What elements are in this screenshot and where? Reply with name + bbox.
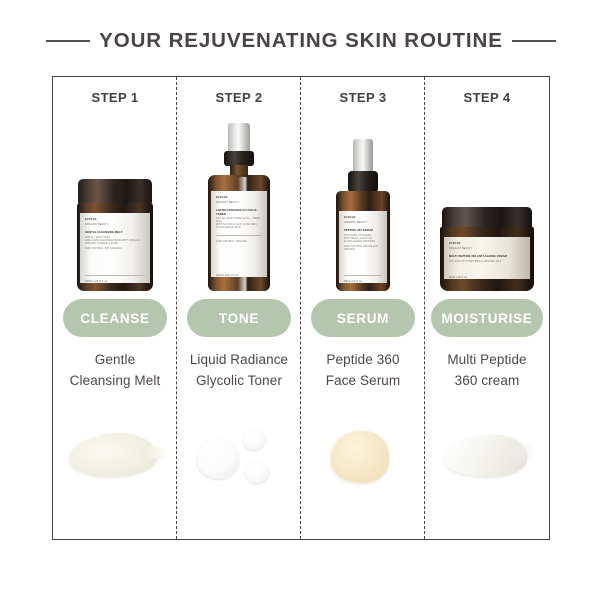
spray-pump (224, 151, 254, 166)
label-product-name: GENTLE CLEANSING MELT (85, 231, 145, 234)
label-brand: EVOLVE (85, 218, 145, 221)
routine-column-step-4: STEP 4 EVOLVE ORGANIC BEAUTY MULTI PEPTI… (425, 77, 549, 539)
droplet-small (245, 461, 269, 483)
routine-column-step-1: STEP 1 EVOLVE ORGANIC BEAUTY GENTLE CLEA… (53, 77, 177, 539)
infographic-page: YOUR REJUVENATING SKIN ROUTINE STEP 1 EV… (0, 0, 602, 602)
label-brand-sub: ORGANIC BEAUTY (344, 221, 382, 224)
step-label: STEP 4 (464, 90, 511, 105)
label-product-name: PEPTIDE 360 SERUM (344, 229, 382, 232)
category-pill-moisturise[interactable]: MOISTURISE (431, 299, 543, 337)
bottle-cap (228, 123, 250, 153)
jar-lid (78, 179, 152, 205)
title-rule-right (512, 40, 556, 42)
droplet-large (197, 439, 239, 479)
texture-swatch-moisturise (425, 392, 549, 539)
product-image-cleanse: EVOLVE ORGANIC BEAUTY GENTLE CLEANSING M… (53, 105, 177, 297)
title-rule-left (46, 40, 90, 42)
product-label: EVOLVE ORGANIC BEAUTY MULTI PEPTIDE 360 … (444, 237, 530, 279)
texture-swatch-cleanse (53, 392, 177, 539)
label-size: 30ml e/1 fl.oz (344, 280, 382, 283)
product-label: EVOLVE ORGANIC BEAUTY LIQUID RADIANCE GL… (211, 191, 267, 277)
balm-texture-smear (69, 433, 157, 477)
product-name-tone: Liquid Radiance Glycolic Toner (190, 350, 288, 392)
product-jar-multi-peptide-cream: EVOLVE ORGANIC BEAUTY MULTI PEPTIDE 360 … (440, 207, 534, 291)
product-name-moisturise: Multi Peptide 360 cream (447, 350, 526, 392)
label-claim: 100% NATURAL, 90% ORGANIC (85, 248, 145, 251)
step-label: STEP 1 (92, 90, 139, 105)
category-pill-serum[interactable]: SERUM (311, 299, 415, 337)
routine-column-step-3: STEP 3 EVOLVE ORGANIC BEAUTY PEPTIDE 360… (301, 77, 425, 539)
pump-dispenser (348, 171, 378, 193)
label-brand: EVOLVE (449, 242, 525, 245)
category-pill-label: CLEANSE (80, 311, 149, 326)
step-label: STEP 3 (340, 90, 387, 105)
category-pill-label: SERUM (337, 311, 389, 326)
bottle-cap (353, 139, 373, 173)
label-brand-sub: ORGANIC BEAUTY (85, 223, 145, 226)
label-brand: EVOLVE (216, 196, 262, 199)
cream-texture-smear (445, 435, 527, 477)
category-pill-label: MOISTURISE (441, 311, 532, 326)
product-label: EVOLVE ORGANIC BEAUTY GENTLE CLEANSING M… (80, 213, 150, 283)
routine-table: STEP 1 EVOLVE ORGANIC BEAUTY GENTLE CLEA… (52, 76, 550, 540)
label-product-name: LIQUID RADIANCE GLYCOLIC TONER (216, 209, 262, 216)
label-description: FOR ALL SKIN TYPES / DULL + TIRED SKIN W… (216, 218, 262, 230)
label-product-name: MULTI PEPTIDE 360 ANTI-AGEING CREAM (449, 255, 525, 258)
product-image-tone: EVOLVE ORGANIC BEAUTY LIQUID RADIANCE GL… (177, 105, 301, 297)
product-image-moisturise: EVOLVE ORGANIC BEAUTY MULTI PEPTIDE 360 … (425, 105, 549, 297)
category-pill-cleanse[interactable]: CLEANSE (63, 299, 167, 337)
label-claim: 100% NATURAL ORIGIN, 90% ORGANIC (344, 246, 382, 252)
product-jar-cleansing-melt: EVOLVE ORGANIC BEAUTY GENTLE CLEANSING M… (77, 179, 153, 291)
product-name-cleanse: Gentle Cleansing Melt (70, 350, 161, 392)
label-claim: 100% NATURAL, ORGANIC (216, 241, 262, 244)
step-label: STEP 2 (216, 90, 263, 105)
product-label: EVOLVE ORGANIC BEAUTY PEPTIDE 360 SERUM … (339, 211, 387, 283)
droplet-medium (243, 429, 265, 450)
label-description: DRY SKIN WITH PEPTIDES & ORGANIC OILS (449, 261, 525, 264)
label-brand: EVOLVE (344, 216, 382, 219)
label-brand-sub: ORGANIC BEAUTY (449, 247, 525, 250)
routine-column-step-2: STEP 2 EVOLVE ORGANIC BEAUTY LIQUID RADI… (177, 77, 301, 539)
jar-lid (442, 207, 532, 229)
label-description: THE SIGNS OF AGEING WITH MACA, CACAY OIL… (344, 235, 382, 244)
texture-swatch-serum (301, 392, 425, 539)
product-bottle-peptide-serum: EVOLVE ORGANIC BEAUTY PEPTIDE 360 SERUM … (336, 139, 390, 291)
label-size: 100ml e/3.3 fl.oz (216, 274, 262, 277)
product-image-serum: EVOLVE ORGANIC BEAUTY PEPTIDE 360 SERUM … (301, 105, 425, 297)
category-pill-label: TONE (219, 311, 259, 326)
product-bottle-glycolic-toner: EVOLVE ORGANIC BEAUTY LIQUID RADIANCE GL… (208, 123, 270, 291)
label-description: FOR ALL SKIN TYPES A DELICATE CLEANSING … (85, 237, 145, 246)
serum-texture-drop (331, 431, 389, 483)
category-pill-tone[interactable]: TONE (187, 299, 291, 337)
label-brand-sub: ORGANIC BEAUTY (216, 201, 262, 204)
page-title-row: YOUR REJUVENATING SKIN ROUTINE (0, 26, 602, 56)
label-size: 100ml e/3.3 fl.oz (85, 280, 145, 283)
texture-swatch-tone (177, 392, 301, 539)
label-size: 60ml e/2 fl.oz (449, 276, 525, 279)
page-title: YOUR REJUVENATING SKIN ROUTINE (99, 29, 503, 53)
product-name-serum: Peptide 360 Face Serum (326, 350, 401, 392)
